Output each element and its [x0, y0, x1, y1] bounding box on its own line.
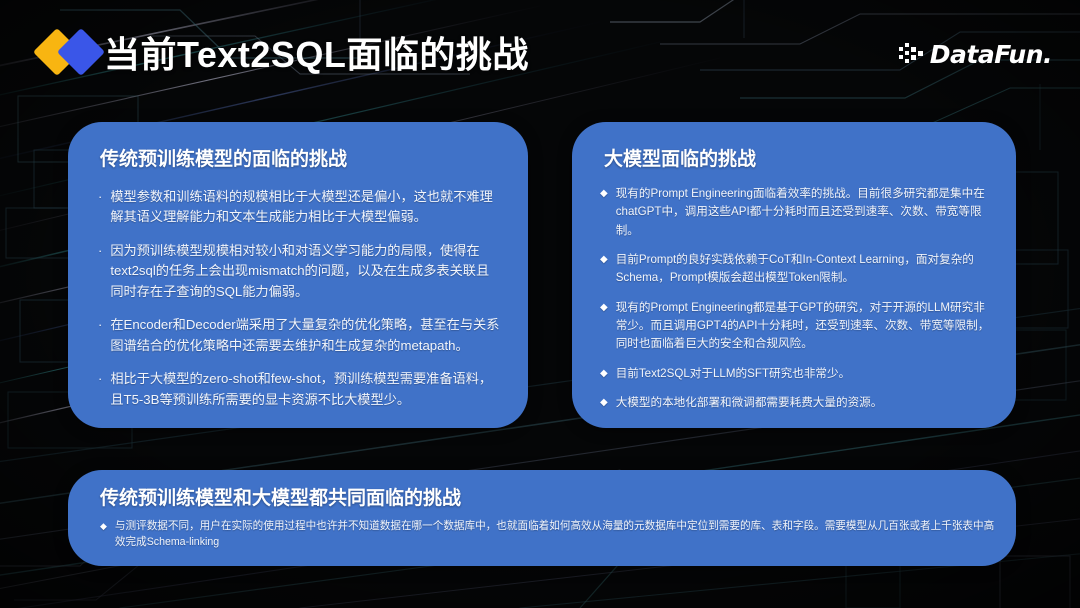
list-item: ◆ 目前Text2SQL对于LLM的SFT研究也非常少。 [600, 365, 996, 383]
page-title: 当前Text2SQL面临的挑战 [104, 26, 529, 78]
list-item-text: 相比于大模型的zero-shot和few-shot，预训练模型需要准备语料，且T… [110, 369, 502, 410]
list-item-text: 在Encoder和Decoder端采用了大量复杂的优化策略，甚至在与关系图谱结合… [110, 315, 502, 356]
bullet-marker-icon: ◆ [600, 365, 608, 383]
list-item-text: 因为预训练模型规模相对较小和对语义学习能力的局限，使得在text2sql的任务上… [110, 241, 502, 302]
list-item: ◆ 现有的Prompt Engineering都是基于GPT的研究，对于开源的L… [600, 299, 996, 354]
list-item: · 在Encoder和Decoder端采用了大量复杂的优化策略，甚至在与关系图谱… [98, 315, 502, 356]
bullet-marker-icon: ◆ [600, 251, 608, 269]
bullet-list: ◆ 现有的Prompt Engineering面临着效率的挑战。目前很多研究都是… [572, 171, 1016, 412]
bullet-marker-icon: ◆ [600, 185, 608, 203]
list-item-text: 现有的Prompt Engineering面临着效率的挑战。目前很多研究都是集中… [616, 185, 996, 240]
list-item-text: 与测评数据不同，用户在实际的使用过程中也许并不知道数据在哪一个数据库中，也就面临… [115, 518, 996, 551]
bullet-list: ◆ 与测评数据不同，用户在实际的使用过程中也许并不知道数据在哪一个数据库中，也就… [68, 510, 1016, 551]
double-diamond-logo-icon [38, 29, 108, 77]
list-item-text: 现有的Prompt Engineering都是基于GPT的研究，对于开源的LLM… [616, 299, 996, 354]
slide-canvas: 当前Text2SQL面临的挑战 DataFun. 传统预训练模型的面临的挑战 [0, 0, 1080, 608]
bullet-marker-icon: · [98, 187, 102, 207]
bullet-marker-icon: · [98, 241, 102, 261]
bullet-marker-icon: ◆ [600, 299, 608, 317]
slide-header: 当前Text2SQL面临的挑战 DataFun. [0, 0, 1080, 108]
bullet-marker-icon: ◆ [600, 394, 608, 412]
bullet-list: · 模型参数和训练语料的规模相比于大模型还是偏小，这也就不难理解其语义理解能力和… [68, 171, 528, 410]
bullet-marker-icon: · [98, 315, 102, 335]
card-shared-challenges: 传统预训练模型和大模型都共同面临的挑战 ◆ 与测评数据不同，用户在实际的使用过程… [68, 470, 1016, 566]
card-title: 传统预训练模型的面临的挑战 [68, 122, 528, 171]
list-item: · 相比于大模型的zero-shot和few-shot，预训练模型需要准备语料，… [98, 369, 502, 410]
brand-name: DataFun. [930, 40, 1052, 69]
list-item: ◆ 与测评数据不同，用户在实际的使用过程中也许并不知道数据在哪一个数据库中，也就… [100, 518, 996, 551]
list-item-text: 模型参数和训练语料的规模相比于大模型还是偏小，这也就不难理解其语义理解能力和文本… [110, 187, 502, 228]
brand-logo: DataFun. [899, 40, 1052, 69]
list-item-text: 目前Text2SQL对于LLM的SFT研究也非常少。 [616, 365, 996, 383]
list-item: ◆ 目前Prompt的良好实践依赖于CoT和In-Context Learnin… [600, 251, 996, 288]
card-title: 传统预训练模型和大模型都共同面临的挑战 [68, 470, 1016, 510]
card-title: 大模型面临的挑战 [572, 122, 1016, 171]
list-item: ◆ 大模型的本地化部署和微调都需要耗费大量的资源。 [600, 394, 996, 412]
bullet-marker-icon: ◆ [100, 518, 107, 534]
list-item: ◆ 现有的Prompt Engineering面临着效率的挑战。目前很多研究都是… [600, 185, 996, 240]
list-item: · 模型参数和训练语料的规模相比于大模型还是偏小，这也就不难理解其语义理解能力和… [98, 187, 502, 228]
bullet-marker-icon: · [98, 369, 102, 389]
card-llm-challenges: 大模型面临的挑战 ◆ 现有的Prompt Engineering面临着效率的挑战… [572, 122, 1016, 428]
card-traditional-pretrained-challenges: 传统预训练模型的面临的挑战 · 模型参数和训练语料的规模相比于大模型还是偏小，这… [68, 122, 528, 428]
list-item: · 因为预训练模型规模相对较小和对语义学习能力的局限，使得在text2sql的任… [98, 241, 502, 302]
list-item-text: 目前Prompt的良好实践依赖于CoT和In-Context Learning，… [616, 251, 996, 288]
list-item-text: 大模型的本地化部署和微调都需要耗费大量的资源。 [616, 394, 996, 412]
dot-matrix-icon [899, 43, 925, 67]
